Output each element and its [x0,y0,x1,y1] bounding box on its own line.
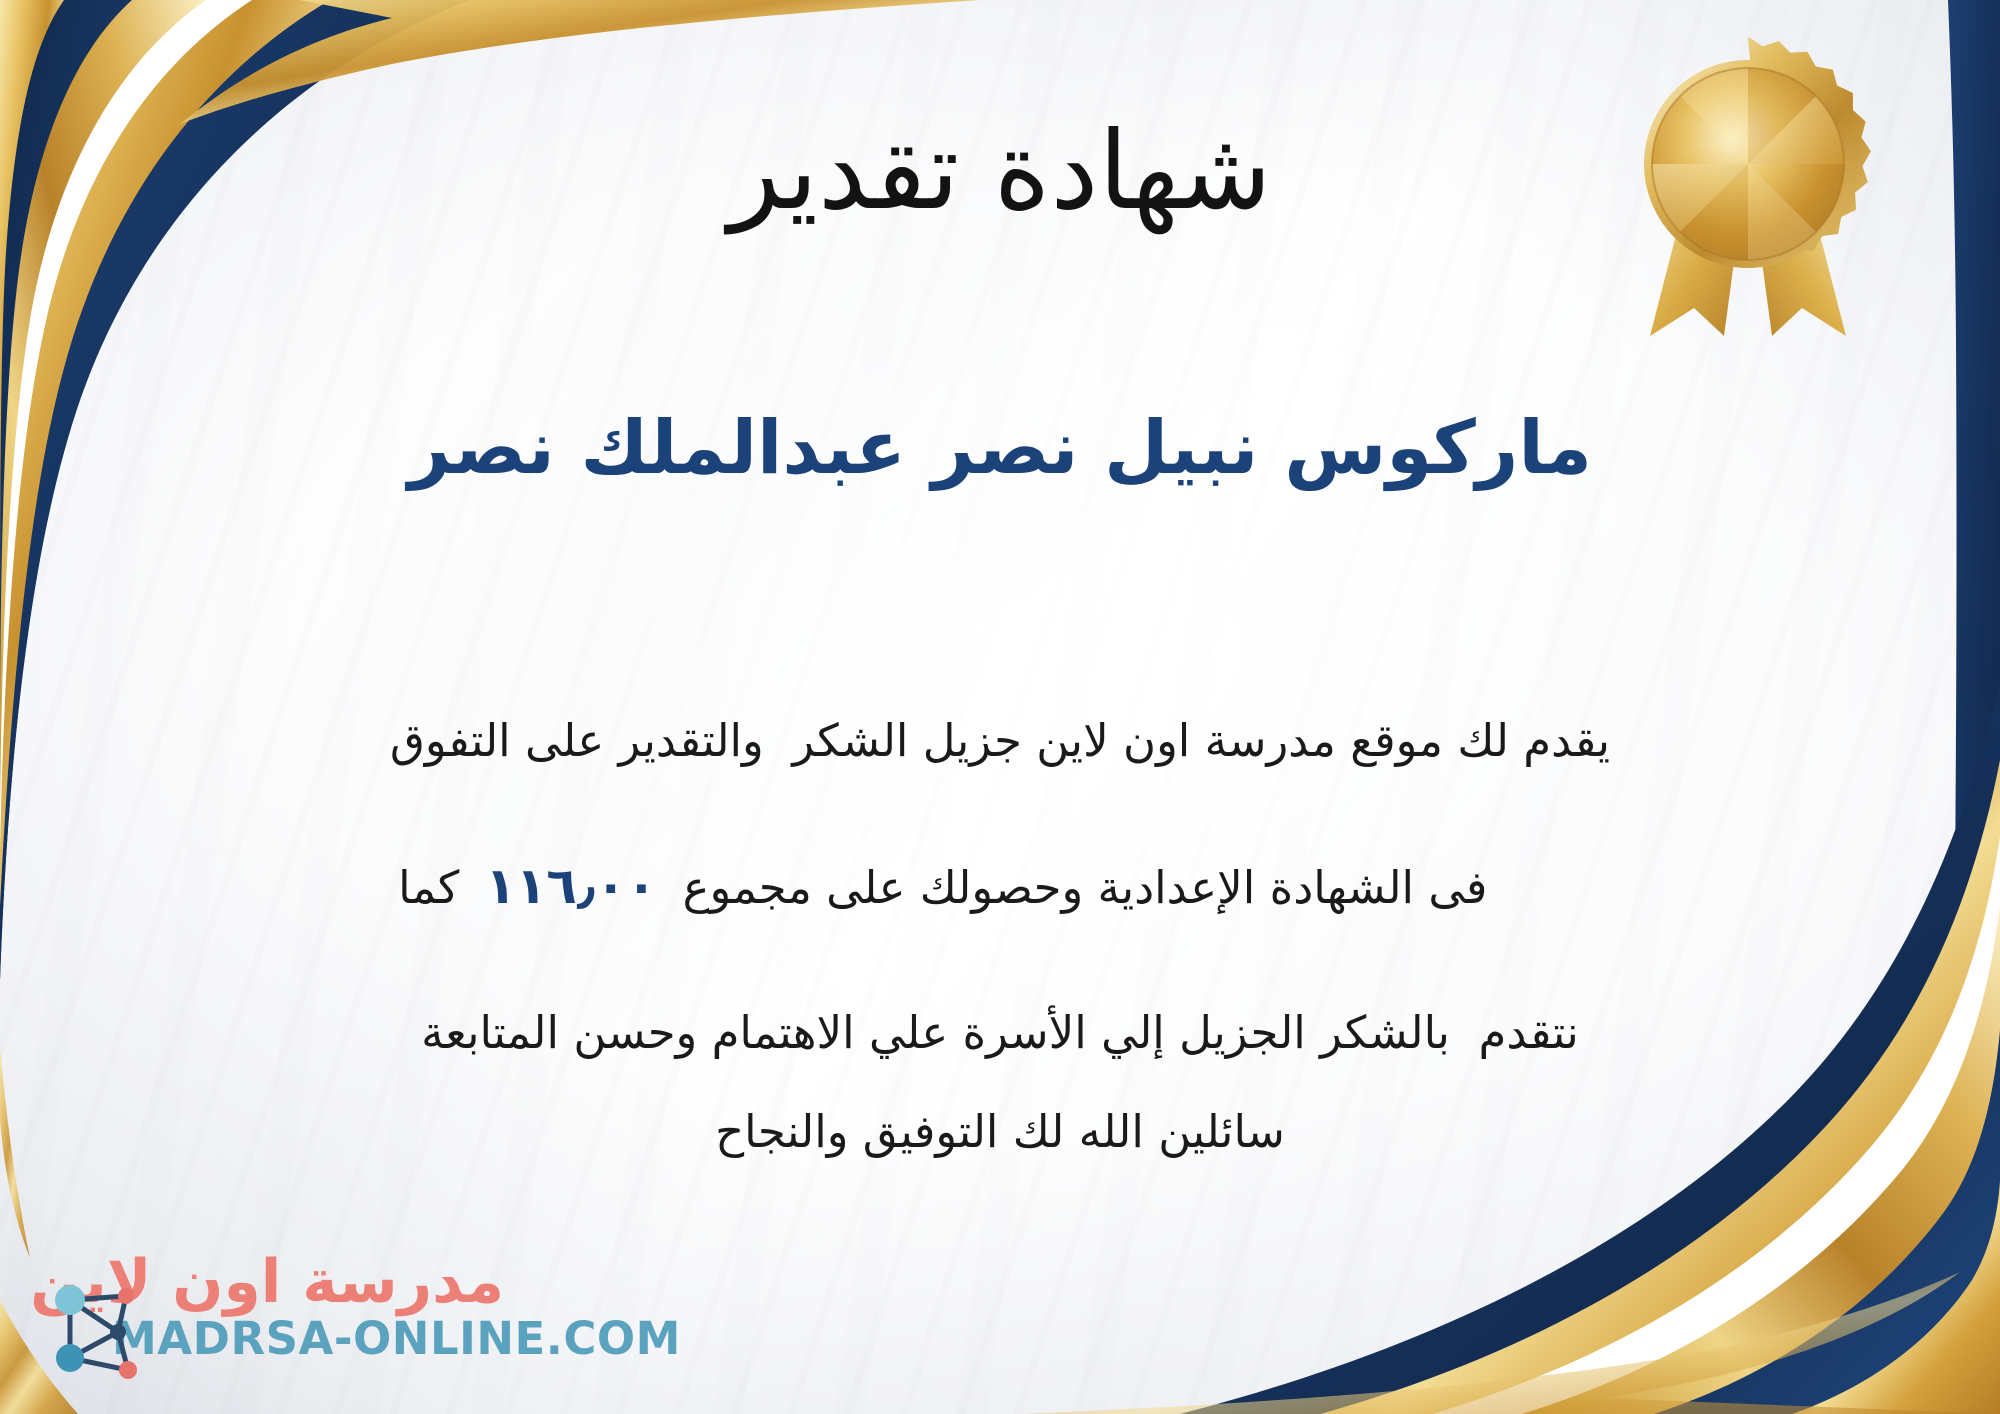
brand-arabic-name: مدرسة اون لاين [112,1250,504,1315]
brand-logo[interactable]: مدرسة اون لاين MADRSA-ONLINE.COM [34,1242,504,1392]
body-line-2: فى الشهادة الإعدادية وحصولك على مجموع١١٦… [70,776,1930,997]
certificate-canvas: شهادة تقدير ماركوس نبيل نصر عبدالملك نصر… [0,0,2000,1414]
body-line-2-prefix: فى الشهادة الإعدادية وحصولك على مجموع [683,861,1488,914]
page-title: شهادة تقدير [0,110,2000,234]
closing-wish: سائلين الله لك التوفيق والنجاح [70,1098,1930,1166]
certificate-body: يقدم لك موقع مدرسة اون لاين جزيل الشكر و… [70,705,1930,1068]
brand-domain: MADRSA-ONLINE.COM [112,1315,504,1364]
body-line-1: يقدم لك موقع مدرسة اون لاين جزيل الشكر و… [70,705,1930,776]
recipient-name: ماركوس نبيل نصر عبدالملك نصر [60,400,1940,496]
body-line-3: نتقدم بالشكر الجزيل إلي الأسرة علي الاهت… [70,997,1930,1068]
certificate-content: شهادة تقدير ماركوس نبيل نصر عبدالملك نصر… [0,0,2000,1414]
total-score-value: ١١٦٫٠٠ [459,857,682,915]
brand-text-rows: مدرسة اون لاين MADRSA-ONLINE.COM [112,1250,504,1363]
body-line-2-suffix: كما [398,861,459,914]
network-nodes-icon [40,1274,144,1386]
